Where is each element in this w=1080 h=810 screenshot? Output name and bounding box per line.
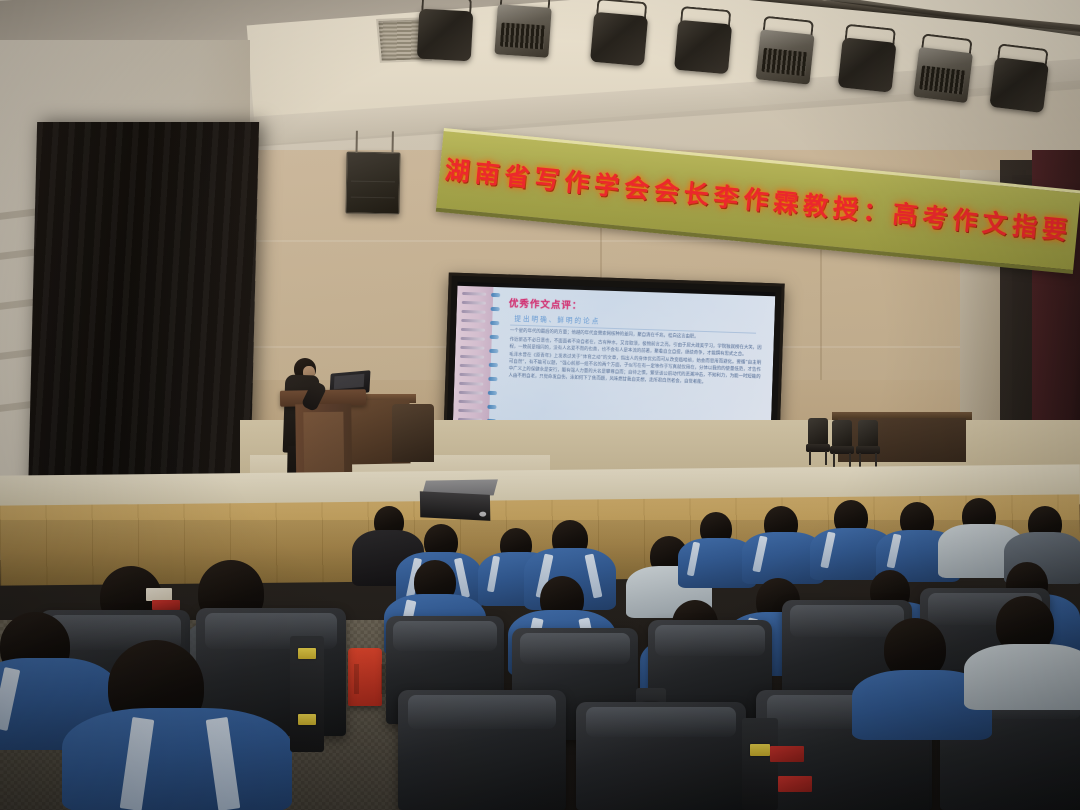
notebook xyxy=(152,600,180,610)
auditorium-seat xyxy=(398,690,566,810)
stage-chair xyxy=(830,420,854,466)
slide-paragraph: 毛泽水曾在《原青年》上发表过关于“体育之动”的文章，指出人的身体优劣而可从改变临… xyxy=(508,353,761,389)
auditorium-seat xyxy=(576,702,746,810)
stage-light-icon xyxy=(417,7,474,66)
stage-light-icon xyxy=(755,27,815,88)
audience-shoulders xyxy=(62,708,292,810)
audience-shoulders xyxy=(964,644,1080,710)
seat-number-label xyxy=(750,744,770,756)
projection-screen-surface: 优秀作文点评： 提出明确、鲜明的论点 一个星的年代的最后的的方量；他越的年代变需… xyxy=(453,282,776,442)
stage-light-icon xyxy=(989,55,1049,117)
stage-side-chair xyxy=(392,404,434,462)
red-book xyxy=(778,776,812,792)
seat-armrest xyxy=(742,718,778,810)
red-plastic-stool xyxy=(348,648,382,706)
wall-speaker-icon xyxy=(345,152,400,215)
stage-light-icon xyxy=(837,35,897,96)
stage-light-icon xyxy=(913,45,973,107)
red-book xyxy=(770,746,804,762)
stage-light-icon xyxy=(674,18,733,78)
slide-content: 优秀作文点评： 提出明确、鲜明的论点 一个星的年代的最后的的方量；他越的年代变需… xyxy=(489,287,775,434)
stage-chair xyxy=(856,420,880,466)
auditorium-photo: 湖南省写作学会会长李作霖教授：高考作文指要 xyxy=(0,0,1080,810)
presentation-slide: 优秀作文点评： 提出明确、鲜明的论点 一个星的年代的最后的的方量；他越的年代变需… xyxy=(453,286,775,434)
stage-chair xyxy=(806,418,830,464)
stage-light-icon xyxy=(590,10,649,70)
stage-light-icon xyxy=(494,2,552,62)
seat-number-label xyxy=(298,648,316,659)
seat-number-label xyxy=(298,714,316,725)
stage-monitor-speaker xyxy=(424,479,497,522)
